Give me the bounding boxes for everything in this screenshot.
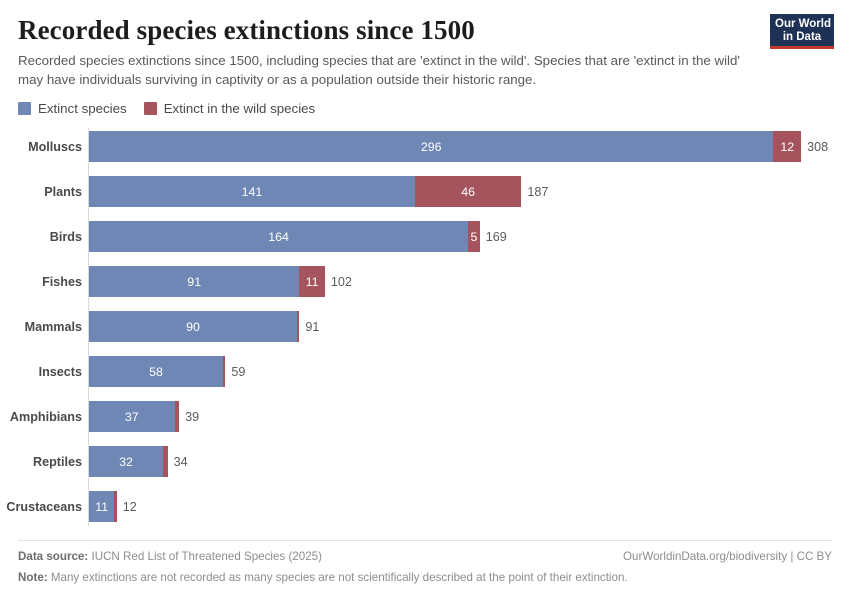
bar-row: Plants14146187 [0,176,850,207]
legend-item[interactable]: Extinct in the wild species [144,101,316,116]
bar-segment-value: 46 [461,185,475,199]
bar-segment-value: 58 [149,365,163,379]
bar-row-label: Mammals [0,311,82,342]
bar-segment-extinct[interactable]: 164 [89,221,468,252]
bar-segment-extinct-in-wild[interactable]: 5 [468,221,480,252]
bar-segment-value: 91 [187,275,201,289]
bar-row: Molluscs29612308 [0,131,850,162]
bar-row: Amphibians3739 [0,401,850,432]
data-source: Data source: IUCN Red List of Threatened… [18,548,322,565]
bar-segment-extinct[interactable]: 90 [89,311,297,342]
legend-label: Extinct species [38,101,127,116]
bar-total-label: 169 [480,221,507,252]
bar-row: Birds1645169 [0,221,850,252]
chart-header: Recorded species extinctions since 1500 … [18,14,758,89]
chart-footer: Data source: IUCN Red List of Threatened… [18,548,832,586]
bar-segment-extinct[interactable]: 58 [89,356,223,387]
attribution-link[interactable]: OurWorldinData.org/biodiversity | CC BY [623,548,832,565]
our-world-in-data-logo[interactable]: Our World in Data [770,14,834,49]
bar-segment-value: 296 [421,140,442,154]
bar-row-label: Amphibians [0,401,82,432]
bar-row-label: Insects [0,356,82,387]
bar-segment-value: 5 [470,230,477,244]
bar-total-label: 308 [801,131,828,162]
bar-segment-extinct-in-wild[interactable]: 12 [773,131,801,162]
data-source-value: IUCN Red List of Threatened Species (202… [91,550,322,563]
bar-row: Crustaceans1112 [0,491,850,522]
logo-line-1: Our World [775,18,829,31]
bar-total-label: 187 [521,176,548,207]
bar-segment-value: 141 [242,185,263,199]
stacked-bar[interactable]: 29612 [89,131,801,162]
legend-swatch-icon [144,102,157,115]
stacked-bar[interactable]: 58 [89,356,225,387]
bar-segment-value: 32 [119,455,133,469]
data-source-label: Data source: [18,550,88,563]
bar-segment-extinct-in-wild[interactable]: 46 [415,176,521,207]
footer-divider [18,540,832,541]
bar-row: Reptiles3234 [0,446,850,477]
bar-row-label: Fishes [0,266,82,297]
stacked-bar[interactable]: 32 [89,446,168,477]
bar-segment-value: 11 [306,275,319,289]
bar-segment-value: 90 [186,320,200,334]
chart-container: Recorded species extinctions since 1500 … [0,0,850,600]
bar-segment-extinct-in-wild[interactable]: 11 [299,266,324,297]
note-value: Many extinctions are not recorded as man… [51,571,628,584]
bar-total-label: 91 [299,311,319,342]
stacked-bar[interactable]: 14146 [89,176,521,207]
page-title: Recorded species extinctions since 1500 [18,14,758,46]
bar-row: Mammals9091 [0,311,850,342]
bar-row-label: Reptiles [0,446,82,477]
bar-segment-extinct[interactable]: 11 [89,491,114,522]
bar-segment-extinct[interactable]: 141 [89,176,415,207]
stacked-bar[interactable]: 37 [89,401,179,432]
bar-total-label: 39 [179,401,199,432]
bar-total-label: 102 [325,266,352,297]
chart-subtitle: Recorded species extinctions since 1500,… [18,52,753,89]
bar-total-label: 59 [225,356,245,387]
bar-row-label: Birds [0,221,82,252]
chart-note: Note: Many extinctions are not recorded … [18,569,832,586]
bar-segment-extinct[interactable]: 37 [89,401,175,432]
bar-segment-value: 37 [125,410,139,424]
bar-total-label: 12 [117,491,137,522]
legend-label: Extinct in the wild species [164,101,316,116]
stacked-bar[interactable]: 1645 [89,221,480,252]
legend-swatch-icon [18,102,31,115]
plot-area: Molluscs29612308Plants14146187Birds16451… [0,128,850,528]
bar-segment-extinct[interactable]: 32 [89,446,163,477]
stacked-bar[interactable]: 9111 [89,266,325,297]
note-label: Note: [18,571,48,584]
bar-row: Fishes9111102 [0,266,850,297]
bar-total-label: 34 [168,446,188,477]
bar-segment-value: 164 [268,230,289,244]
bar-segment-extinct[interactable]: 296 [89,131,773,162]
bar-segment-value: 12 [780,140,794,154]
stacked-bar[interactable]: 90 [89,311,299,342]
bar-row: Insects5859 [0,356,850,387]
bar-segment-extinct[interactable]: 91 [89,266,299,297]
chart-legend: Extinct speciesExtinct in the wild speci… [18,101,315,116]
bar-row-label: Crustaceans [0,491,82,522]
legend-item[interactable]: Extinct species [18,101,127,116]
bar-segment-value: 11 [95,500,108,514]
bar-row-label: Molluscs [0,131,82,162]
bar-row-label: Plants [0,176,82,207]
logo-line-2: in Data [775,31,829,44]
stacked-bar[interactable]: 11 [89,491,117,522]
